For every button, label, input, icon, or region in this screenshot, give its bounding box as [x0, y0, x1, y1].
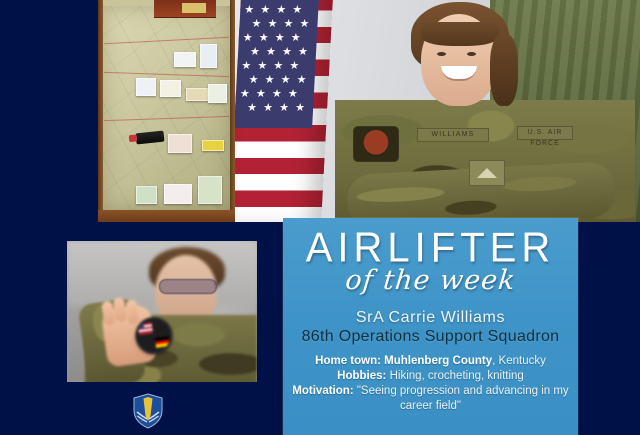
flag-star: ★ — [280, 76, 289, 85]
fact-label-home-town: Home town: — [315, 355, 381, 367]
uniform-nametape: WILLIAMS — [417, 128, 489, 142]
portrait-bangs — [421, 22, 499, 46]
flag-star: ★ — [256, 90, 265, 99]
flag-star: ★ — [299, 20, 308, 29]
challenge-coin-photo — [67, 241, 257, 382]
unit-shoulder-patch — [353, 126, 399, 162]
flag-star: ★ — [263, 104, 272, 113]
pinned-card — [186, 88, 208, 101]
uniform-service-tape: U.S. AIR FORCE — [517, 126, 573, 140]
map-shelf — [98, 210, 235, 222]
coin-photo-finger — [113, 297, 127, 322]
airlifter-of-the-week-poster: ★ ★ ★ ★ ★ ★ ★ ★ ★ ★ ★ ★ ★ ★ ★ ★ ★ ★ ★ ★ — [0, 0, 640, 435]
fact-hobbies: Hobbies: Hiking, crocheting, knitting — [291, 369, 570, 384]
airman-facts-list: Home town: Muhlenberg County, Kentucky H… — [283, 354, 578, 414]
pinned-card — [208, 84, 227, 103]
flag-star: ★ — [291, 34, 300, 43]
poster-title: AIRLIFTER — [283, 227, 578, 269]
fact-value-hobbies: Hiking, crocheting, knitting — [390, 370, 524, 382]
us-flag: ★ ★ ★ ★ ★ ★ ★ ★ ★ ★ ★ ★ ★ ★ ★ ★ ★ ★ ★ ★ — [235, 0, 333, 222]
fact-value-motivation: "Seeing progression and advancing in my … — [357, 385, 569, 412]
flag-star: ★ — [244, 6, 253, 15]
coin-photo-glasses — [159, 279, 217, 294]
flag-star: ★ — [272, 90, 281, 99]
portrait-hair-side — [490, 34, 518, 106]
flag-star: ★ — [248, 76, 257, 85]
flag-union: ★ ★ ★ ★ ★ ★ ★ ★ ★ ★ ★ ★ ★ ★ ★ ★ ★ ★ ★ ★ — [235, 0, 319, 128]
portrait-eye — [467, 52, 476, 56]
flag-star: ★ — [283, 20, 292, 29]
usaf-shield-icon — [131, 392, 165, 430]
flag-star: ★ — [276, 6, 285, 15]
fact-home-town: Home town: Muhlenberg County, Kentucky — [291, 354, 570, 369]
flag-star: ★ — [250, 48, 259, 57]
flag-star: ★ — [267, 20, 276, 29]
coin-photo-arm — [77, 297, 146, 382]
pinned-card — [136, 186, 157, 204]
airman-name: SrA Carrie Williams — [283, 308, 578, 327]
flag-star: ★ — [292, 6, 301, 15]
flag-star: ★ — [266, 48, 275, 57]
airman-portrait-photo: ★ ★ ★ ★ ★ ★ ★ ★ ★ ★ ★ ★ ★ ★ ★ ★ ★ ★ ★ ★ — [235, 0, 640, 222]
flag-star: ★ — [243, 34, 252, 43]
flag-star: ★ — [282, 48, 291, 57]
flag-star: ★ — [260, 6, 269, 15]
pinned-card — [174, 52, 196, 67]
portrait-eye — [437, 52, 446, 56]
info-card: AIRLIFTER of the week SrA Carrie William… — [283, 218, 578, 435]
german-flag-icon — [155, 336, 170, 348]
fact-highlight-home-town: Muhlenberg County — [384, 355, 492, 367]
flag-star: ★ — [279, 104, 288, 113]
pinned-card — [202, 140, 224, 151]
pinned-card — [200, 44, 217, 68]
flag-star: ★ — [240, 90, 249, 99]
flag-star: ★ — [251, 20, 260, 29]
pinned-card — [164, 184, 192, 204]
map-frame-left — [98, 0, 103, 222]
flag-star: ★ — [247, 104, 256, 113]
fact-label-motivation: Motivation: — [292, 385, 353, 397]
flag-star: ★ — [289, 62, 298, 71]
flag-star: ★ — [257, 62, 266, 71]
pinned-card — [168, 134, 192, 153]
fact-label-hobbies: Hobbies: — [337, 370, 386, 382]
pinned-card — [198, 176, 222, 204]
uniform-rank-insignia — [469, 160, 505, 186]
flag-star: ★ — [296, 76, 305, 85]
map-top-document — [154, 0, 216, 18]
flag-star: ★ — [273, 62, 282, 71]
flag-star: ★ — [241, 62, 250, 71]
pinned-card — [160, 80, 181, 97]
flag-star: ★ — [288, 90, 297, 99]
fact-value-home-town: , Kentucky — [492, 355, 546, 367]
pinned-card — [136, 78, 156, 96]
fact-motivation: Motivation: "Seeing progression and adva… — [291, 384, 570, 414]
flag-star: ★ — [264, 76, 273, 85]
flag-star: ★ — [275, 34, 284, 43]
wall-map-photo — [98, 0, 235, 222]
us-flag-icon — [138, 322, 153, 335]
usaf-shield-emblem — [131, 392, 165, 430]
flag-star: ★ — [295, 104, 304, 113]
airman-unit: 86th Operations Support Squadron — [283, 328, 578, 346]
flag-star: ★ — [298, 48, 307, 57]
poster-subtitle: of the week — [283, 266, 578, 296]
flag-star: ★ — [259, 34, 268, 43]
